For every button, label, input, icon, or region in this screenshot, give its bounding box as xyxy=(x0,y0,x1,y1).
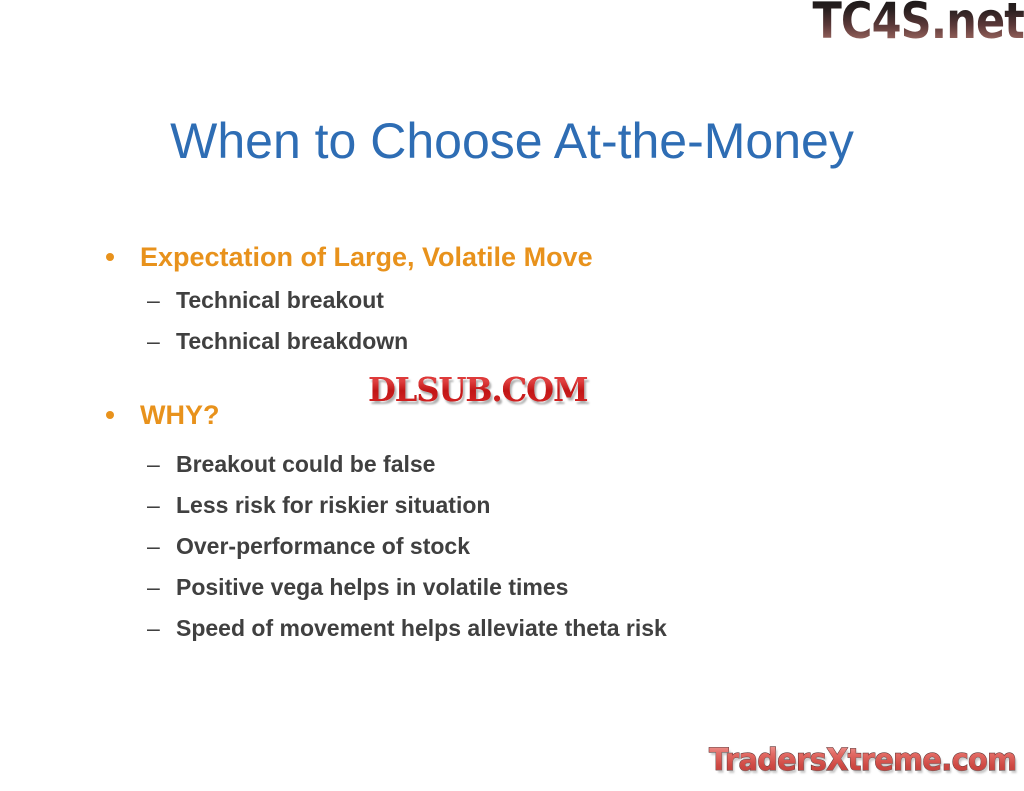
bullet-level2: – Less risk for riskier situation xyxy=(96,491,956,520)
bullet-level2-label: Breakout could be false xyxy=(176,451,435,477)
dash-icon: – xyxy=(147,532,160,561)
bullet-level2-label: Positive vega helps in volatile times xyxy=(176,574,568,600)
slide-body: Expectation of Large, Volatile Move – Te… xyxy=(96,240,956,643)
dash-icon: – xyxy=(147,614,160,643)
bullet-level2: – Breakout could be false xyxy=(96,450,956,479)
watermark-tradersxtreme-outline: TradersXtreme.com xyxy=(709,743,1016,779)
bullet-level2-label: Over-performance of stock xyxy=(176,533,470,559)
watermark-dlsub-outline: DLSUB.COM xyxy=(368,371,588,409)
bullet-level1: Expectation of Large, Volatile Move xyxy=(96,240,956,274)
bullet-level2-label: Technical breakout xyxy=(176,287,384,313)
dash-icon: – xyxy=(147,491,160,520)
bullet-level1-label: WHY? xyxy=(140,400,219,430)
dash-icon: – xyxy=(147,327,160,356)
bullet-dot-icon xyxy=(106,411,114,419)
page-title: When to Choose At-the-Money xyxy=(0,112,1024,170)
bullet-level2: – Technical breakdown xyxy=(96,327,956,356)
bullet-level2-label: Less risk for riskier situation xyxy=(176,492,490,518)
bullet-level2: – Over-performance of stock xyxy=(96,532,956,561)
bullet-level1-label: Expectation of Large, Volatile Move xyxy=(140,242,593,272)
bullet-level2-label: Speed of movement helps alleviate theta … xyxy=(176,615,667,641)
bullet-dot-icon xyxy=(106,253,114,261)
watermark-tc4s: TC4S.net xyxy=(812,0,1024,46)
bullet-level2-label: Technical breakdown xyxy=(176,328,408,354)
dash-icon: – xyxy=(147,573,160,602)
bullet-level2: – Speed of movement helps alleviate thet… xyxy=(96,614,956,643)
dash-icon: – xyxy=(147,286,160,315)
bullet-level2: – Positive vega helps in volatile times xyxy=(96,573,956,602)
dash-icon: – xyxy=(147,450,160,479)
bullet-level2: – Technical breakout xyxy=(96,286,956,315)
presentation-slide: TC4S.net When to Choose At-the-Money Exp… xyxy=(0,0,1024,791)
